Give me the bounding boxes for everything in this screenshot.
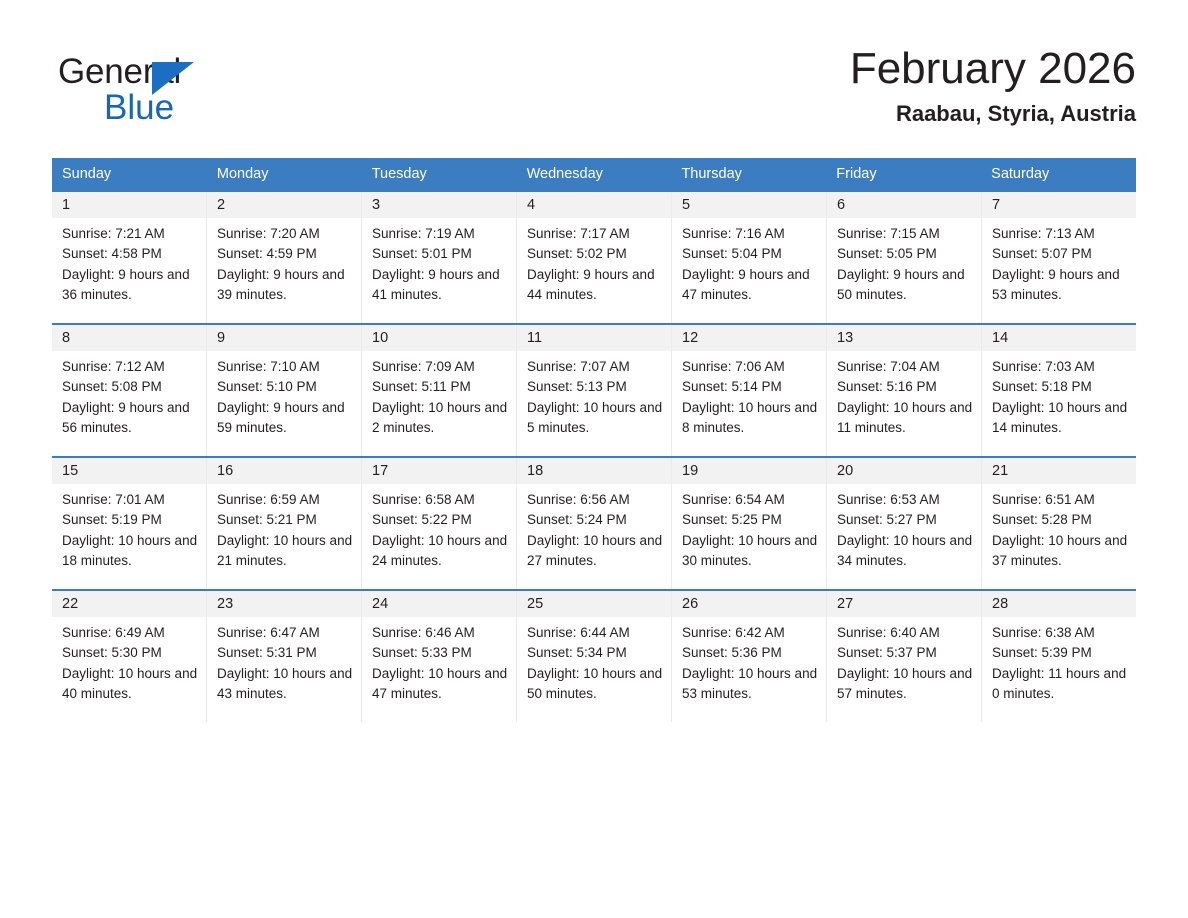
sunset-text: Sunset: 5:39 PM — [992, 643, 1128, 663]
daylight-text: Daylight: 10 hours and 18 minutes. — [62, 531, 198, 572]
calendar-day-cell[interactable]: 20 Sunrise: 6:53 AM Sunset: 5:27 PM Dayl… — [827, 458, 982, 589]
day-number: 23 — [207, 591, 361, 617]
daylight-text: Daylight: 9 hours and 53 minutes. — [992, 265, 1128, 306]
sunset-text: Sunset: 5:37 PM — [837, 643, 973, 663]
day-number: 6 — [827, 192, 981, 218]
daylight-text: Daylight: 10 hours and 27 minutes. — [527, 531, 663, 572]
day-details: Sunrise: 6:58 AM Sunset: 5:22 PM Dayligh… — [362, 484, 516, 571]
sunset-text: Sunset: 5:31 PM — [217, 643, 353, 663]
day-details: Sunrise: 7:21 AM Sunset: 4:58 PM Dayligh… — [52, 218, 206, 305]
calendar-page: General Blue February 2026 Raabau, Styri… — [0, 0, 1188, 918]
sunrise-text: Sunrise: 7:17 AM — [527, 224, 663, 244]
daylight-text: Daylight: 10 hours and 40 minutes. — [62, 664, 198, 705]
calendar-day-cell[interactable]: 24 Sunrise: 6:46 AM Sunset: 5:33 PM Dayl… — [362, 591, 517, 722]
day-details: Sunrise: 6:59 AM Sunset: 5:21 PM Dayligh… — [207, 484, 361, 571]
sunset-text: Sunset: 5:21 PM — [217, 510, 353, 530]
calendar-day-cell[interactable]: 4 Sunrise: 7:17 AM Sunset: 5:02 PM Dayli… — [517, 192, 672, 323]
sunset-text: Sunset: 5:30 PM — [62, 643, 198, 663]
day-details: Sunrise: 7:09 AM Sunset: 5:11 PM Dayligh… — [362, 351, 516, 438]
sunrise-text: Sunrise: 7:04 AM — [837, 357, 973, 377]
sunrise-text: Sunrise: 7:15 AM — [837, 224, 973, 244]
sunrise-text: Sunrise: 7:09 AM — [372, 357, 508, 377]
day-details: Sunrise: 6:49 AM Sunset: 5:30 PM Dayligh… — [52, 617, 206, 704]
day-number: 20 — [827, 458, 981, 484]
day-details: Sunrise: 7:06 AM Sunset: 5:14 PM Dayligh… — [672, 351, 826, 438]
sunrise-text: Sunrise: 7:19 AM — [372, 224, 508, 244]
daylight-text: Daylight: 10 hours and 50 minutes. — [527, 664, 663, 705]
daylight-text: Daylight: 9 hours and 59 minutes. — [217, 398, 353, 439]
day-number: 28 — [982, 591, 1136, 617]
calendar-grid: Sunday Monday Tuesday Wednesday Thursday… — [52, 158, 1136, 722]
day-details: Sunrise: 6:42 AM Sunset: 5:36 PM Dayligh… — [672, 617, 826, 704]
sunset-text: Sunset: 5:28 PM — [992, 510, 1128, 530]
sunset-text: Sunset: 5:02 PM — [527, 244, 663, 264]
weekday-header-friday: Friday — [826, 158, 981, 190]
day-number: 9 — [207, 325, 361, 351]
day-details: Sunrise: 6:44 AM Sunset: 5:34 PM Dayligh… — [517, 617, 671, 704]
weekday-header-saturday: Saturday — [981, 158, 1136, 190]
day-details: Sunrise: 7:13 AM Sunset: 5:07 PM Dayligh… — [982, 218, 1136, 305]
sunrise-text: Sunrise: 6:54 AM — [682, 490, 818, 510]
calendar-day-cell[interactable]: 15 Sunrise: 7:01 AM Sunset: 5:19 PM Dayl… — [52, 458, 207, 589]
daylight-text: Daylight: 10 hours and 37 minutes. — [992, 531, 1128, 572]
daylight-text: Daylight: 10 hours and 53 minutes. — [682, 664, 818, 705]
sunrise-text: Sunrise: 7:06 AM — [682, 357, 818, 377]
sunrise-text: Sunrise: 6:49 AM — [62, 623, 198, 643]
sunrise-text: Sunrise: 6:40 AM — [837, 623, 973, 643]
day-number: 25 — [517, 591, 671, 617]
calendar-day-cell[interactable]: 1 Sunrise: 7:21 AM Sunset: 4:58 PM Dayli… — [52, 192, 207, 323]
day-details: Sunrise: 6:51 AM Sunset: 5:28 PM Dayligh… — [982, 484, 1136, 571]
day-number: 15 — [52, 458, 206, 484]
daylight-text: Daylight: 9 hours and 56 minutes. — [62, 398, 198, 439]
weekday-header-thursday: Thursday — [671, 158, 826, 190]
sunset-text: Sunset: 5:18 PM — [992, 377, 1128, 397]
day-details: Sunrise: 7:10 AM Sunset: 5:10 PM Dayligh… — [207, 351, 361, 438]
sunrise-text: Sunrise: 7:07 AM — [527, 357, 663, 377]
calendar-day-cell[interactable]: 19 Sunrise: 6:54 AM Sunset: 5:25 PM Dayl… — [672, 458, 827, 589]
day-details: Sunrise: 7:07 AM Sunset: 5:13 PM Dayligh… — [517, 351, 671, 438]
daylight-text: Daylight: 10 hours and 14 minutes. — [992, 398, 1128, 439]
day-number: 18 — [517, 458, 671, 484]
day-details: Sunrise: 6:40 AM Sunset: 5:37 PM Dayligh… — [827, 617, 981, 704]
calendar-day-cell[interactable]: 11 Sunrise: 7:07 AM Sunset: 5:13 PM Dayl… — [517, 325, 672, 456]
calendar-day-cell[interactable]: 23 Sunrise: 6:47 AM Sunset: 5:31 PM Dayl… — [207, 591, 362, 722]
day-details: Sunrise: 6:38 AM Sunset: 5:39 PM Dayligh… — [982, 617, 1136, 704]
calendar-day-cell[interactable]: 28 Sunrise: 6:38 AM Sunset: 5:39 PM Dayl… — [982, 591, 1136, 722]
daylight-text: Daylight: 10 hours and 43 minutes. — [217, 664, 353, 705]
day-number: 1 — [52, 192, 206, 218]
sunrise-text: Sunrise: 7:20 AM — [217, 224, 353, 244]
day-details: Sunrise: 6:54 AM Sunset: 5:25 PM Dayligh… — [672, 484, 826, 571]
calendar-week-row: 15 Sunrise: 7:01 AM Sunset: 5:19 PM Dayl… — [52, 456, 1136, 589]
day-number: 10 — [362, 325, 516, 351]
day-number: 3 — [362, 192, 516, 218]
logo-text-blue: Blue — [104, 90, 174, 125]
day-number: 21 — [982, 458, 1136, 484]
weekday-header-tuesday: Tuesday — [362, 158, 517, 190]
day-details: Sunrise: 7:20 AM Sunset: 4:59 PM Dayligh… — [207, 218, 361, 305]
day-number: 26 — [672, 591, 826, 617]
sunrise-text: Sunrise: 6:51 AM — [992, 490, 1128, 510]
day-details: Sunrise: 6:46 AM Sunset: 5:33 PM Dayligh… — [362, 617, 516, 704]
day-details: Sunrise: 7:01 AM Sunset: 5:19 PM Dayligh… — [52, 484, 206, 571]
calendar-day-cell[interactable]: 26 Sunrise: 6:42 AM Sunset: 5:36 PM Dayl… — [672, 591, 827, 722]
daylight-text: Daylight: 9 hours and 47 minutes. — [682, 265, 818, 306]
sunset-text: Sunset: 5:19 PM — [62, 510, 198, 530]
day-details: Sunrise: 7:15 AM Sunset: 5:05 PM Dayligh… — [827, 218, 981, 305]
sunset-text: Sunset: 5:04 PM — [682, 244, 818, 264]
sunrise-text: Sunrise: 7:13 AM — [992, 224, 1128, 244]
daylight-text: Daylight: 10 hours and 8 minutes. — [682, 398, 818, 439]
day-number: 19 — [672, 458, 826, 484]
daylight-text: Daylight: 10 hours and 47 minutes. — [372, 664, 508, 705]
sunset-text: Sunset: 5:08 PM — [62, 377, 198, 397]
weekday-header-wednesday: Wednesday — [517, 158, 672, 190]
sunset-text: Sunset: 5:36 PM — [682, 643, 818, 663]
calendar-day-cell[interactable]: 3 Sunrise: 7:19 AM Sunset: 5:01 PM Dayli… — [362, 192, 517, 323]
sunrise-text: Sunrise: 6:38 AM — [992, 623, 1128, 643]
page-header: General Blue February 2026 Raabau, Styri… — [52, 44, 1136, 148]
calendar-day-cell[interactable]: 10 Sunrise: 7:09 AM Sunset: 5:11 PM Dayl… — [362, 325, 517, 456]
daylight-text: Daylight: 10 hours and 21 minutes. — [217, 531, 353, 572]
day-number: 17 — [362, 458, 516, 484]
day-number: 16 — [207, 458, 361, 484]
calendar-day-cell[interactable]: 7 Sunrise: 7:13 AM Sunset: 5:07 PM Dayli… — [982, 192, 1136, 323]
calendar-day-cell[interactable]: 5 Sunrise: 7:16 AM Sunset: 5:04 PM Dayli… — [672, 192, 827, 323]
sunrise-text: Sunrise: 7:12 AM — [62, 357, 198, 377]
day-number: 14 — [982, 325, 1136, 351]
sunrise-text: Sunrise: 6:53 AM — [837, 490, 973, 510]
sunrise-text: Sunrise: 7:10 AM — [217, 357, 353, 377]
sunset-text: Sunset: 4:59 PM — [217, 244, 353, 264]
weekday-header-row: Sunday Monday Tuesday Wednesday Thursday… — [52, 158, 1136, 190]
sunset-text: Sunset: 5:24 PM — [527, 510, 663, 530]
sunrise-text: Sunrise: 7:16 AM — [682, 224, 818, 244]
calendar-day-cell[interactable]: 16 Sunrise: 6:59 AM Sunset: 5:21 PM Dayl… — [207, 458, 362, 589]
calendar-day-cell[interactable]: 12 Sunrise: 7:06 AM Sunset: 5:14 PM Dayl… — [672, 325, 827, 456]
generalblue-logo: General Blue — [58, 54, 278, 134]
daylight-text: Daylight: 10 hours and 30 minutes. — [682, 531, 818, 572]
sunrise-text: Sunrise: 6:44 AM — [527, 623, 663, 643]
daylight-text: Daylight: 9 hours and 39 minutes. — [217, 265, 353, 306]
day-number: 7 — [982, 192, 1136, 218]
sunrise-text: Sunrise: 7:03 AM — [992, 357, 1128, 377]
day-details: Sunrise: 6:56 AM Sunset: 5:24 PM Dayligh… — [517, 484, 671, 571]
sunset-text: Sunset: 5:01 PM — [372, 244, 508, 264]
weekday-header-sunday: Sunday — [52, 158, 207, 190]
day-details: Sunrise: 6:47 AM Sunset: 5:31 PM Dayligh… — [207, 617, 361, 704]
sunset-text: Sunset: 5:14 PM — [682, 377, 818, 397]
sunrise-text: Sunrise: 6:46 AM — [372, 623, 508, 643]
calendar-day-cell[interactable]: 6 Sunrise: 7:15 AM Sunset: 5:05 PM Dayli… — [827, 192, 982, 323]
sunrise-text: Sunrise: 6:42 AM — [682, 623, 818, 643]
sunrise-text: Sunrise: 7:01 AM — [62, 490, 198, 510]
sunset-text: Sunset: 5:13 PM — [527, 377, 663, 397]
calendar-week-row: 8 Sunrise: 7:12 AM Sunset: 5:08 PM Dayli… — [52, 323, 1136, 456]
day-number: 27 — [827, 591, 981, 617]
daylight-text: Daylight: 10 hours and 5 minutes. — [527, 398, 663, 439]
calendar-day-cell[interactable]: 18 Sunrise: 6:56 AM Sunset: 5:24 PM Dayl… — [517, 458, 672, 589]
calendar-day-cell[interactable]: 21 Sunrise: 6:51 AM Sunset: 5:28 PM Dayl… — [982, 458, 1136, 589]
daylight-text: Daylight: 10 hours and 57 minutes. — [837, 664, 973, 705]
calendar-week-row: 1 Sunrise: 7:21 AM Sunset: 4:58 PM Dayli… — [52, 190, 1136, 323]
day-details: Sunrise: 7:19 AM Sunset: 5:01 PM Dayligh… — [362, 218, 516, 305]
sunrise-text: Sunrise: 6:58 AM — [372, 490, 508, 510]
sunrise-text: Sunrise: 6:56 AM — [527, 490, 663, 510]
daylight-text: Daylight: 10 hours and 2 minutes. — [372, 398, 508, 439]
day-number: 22 — [52, 591, 206, 617]
day-number: 12 — [672, 325, 826, 351]
calendar-day-cell[interactable]: 25 Sunrise: 6:44 AM Sunset: 5:34 PM Dayl… — [517, 591, 672, 722]
sunset-text: Sunset: 5:33 PM — [372, 643, 508, 663]
calendar-day-cell[interactable]: 13 Sunrise: 7:04 AM Sunset: 5:16 PM Dayl… — [827, 325, 982, 456]
weekday-header-monday: Monday — [207, 158, 362, 190]
daylight-text: Daylight: 11 hours and 0 minutes. — [992, 664, 1128, 705]
day-number: 24 — [362, 591, 516, 617]
calendar-day-cell[interactable]: 22 Sunrise: 6:49 AM Sunset: 5:30 PM Dayl… — [52, 591, 207, 722]
daylight-text: Daylight: 9 hours and 36 minutes. — [62, 265, 198, 306]
calendar-day-cell[interactable]: 27 Sunrise: 6:40 AM Sunset: 5:37 PM Dayl… — [827, 591, 982, 722]
day-details: Sunrise: 7:17 AM Sunset: 5:02 PM Dayligh… — [517, 218, 671, 305]
sunset-text: Sunset: 5:05 PM — [837, 244, 973, 264]
page-title: February 2026 — [850, 44, 1136, 93]
location-subtitle: Raabau, Styria, Austria — [850, 101, 1136, 127]
sunset-text: Sunset: 5:16 PM — [837, 377, 973, 397]
day-number: 11 — [517, 325, 671, 351]
sunset-text: Sunset: 5:27 PM — [837, 510, 973, 530]
day-number: 8 — [52, 325, 206, 351]
sunset-text: Sunset: 4:58 PM — [62, 244, 198, 264]
sunrise-text: Sunrise: 6:47 AM — [217, 623, 353, 643]
sunset-text: Sunset: 5:10 PM — [217, 377, 353, 397]
calendar-day-cell[interactable]: 14 Sunrise: 7:03 AM Sunset: 5:18 PM Dayl… — [982, 325, 1136, 456]
daylight-text: Daylight: 9 hours and 41 minutes. — [372, 265, 508, 306]
title-block: February 2026 Raabau, Styria, Austria — [850, 44, 1136, 128]
day-number: 4 — [517, 192, 671, 218]
daylight-text: Daylight: 9 hours and 50 minutes. — [837, 265, 973, 306]
day-number: 13 — [827, 325, 981, 351]
daylight-text: Daylight: 10 hours and 34 minutes. — [837, 531, 973, 572]
sunset-text: Sunset: 5:25 PM — [682, 510, 818, 530]
day-details: Sunrise: 7:12 AM Sunset: 5:08 PM Dayligh… — [52, 351, 206, 438]
day-number: 2 — [207, 192, 361, 218]
sunrise-text: Sunrise: 6:59 AM — [217, 490, 353, 510]
daylight-text: Daylight: 10 hours and 24 minutes. — [372, 531, 508, 572]
calendar-week-row: 22 Sunrise: 6:49 AM Sunset: 5:30 PM Dayl… — [52, 589, 1136, 722]
day-details: Sunrise: 7:03 AM Sunset: 5:18 PM Dayligh… — [982, 351, 1136, 438]
sunset-text: Sunset: 5:22 PM — [372, 510, 508, 530]
day-details: Sunrise: 6:53 AM Sunset: 5:27 PM Dayligh… — [827, 484, 981, 571]
calendar-day-cell[interactable]: 2 Sunrise: 7:20 AM Sunset: 4:59 PM Dayli… — [207, 192, 362, 323]
day-number: 5 — [672, 192, 826, 218]
sunset-text: Sunset: 5:07 PM — [992, 244, 1128, 264]
calendar-day-cell[interactable]: 9 Sunrise: 7:10 AM Sunset: 5:10 PM Dayli… — [207, 325, 362, 456]
day-details: Sunrise: 7:04 AM Sunset: 5:16 PM Dayligh… — [827, 351, 981, 438]
calendar-day-cell[interactable]: 17 Sunrise: 6:58 AM Sunset: 5:22 PM Dayl… — [362, 458, 517, 589]
day-details: Sunrise: 7:16 AM Sunset: 5:04 PM Dayligh… — [672, 218, 826, 305]
calendar-day-cell[interactable]: 8 Sunrise: 7:12 AM Sunset: 5:08 PM Dayli… — [52, 325, 207, 456]
sunset-text: Sunset: 5:34 PM — [527, 643, 663, 663]
daylight-text: Daylight: 9 hours and 44 minutes. — [527, 265, 663, 306]
daylight-text: Daylight: 10 hours and 11 minutes. — [837, 398, 973, 439]
sunset-text: Sunset: 5:11 PM — [372, 377, 508, 397]
sunrise-text: Sunrise: 7:21 AM — [62, 224, 198, 244]
